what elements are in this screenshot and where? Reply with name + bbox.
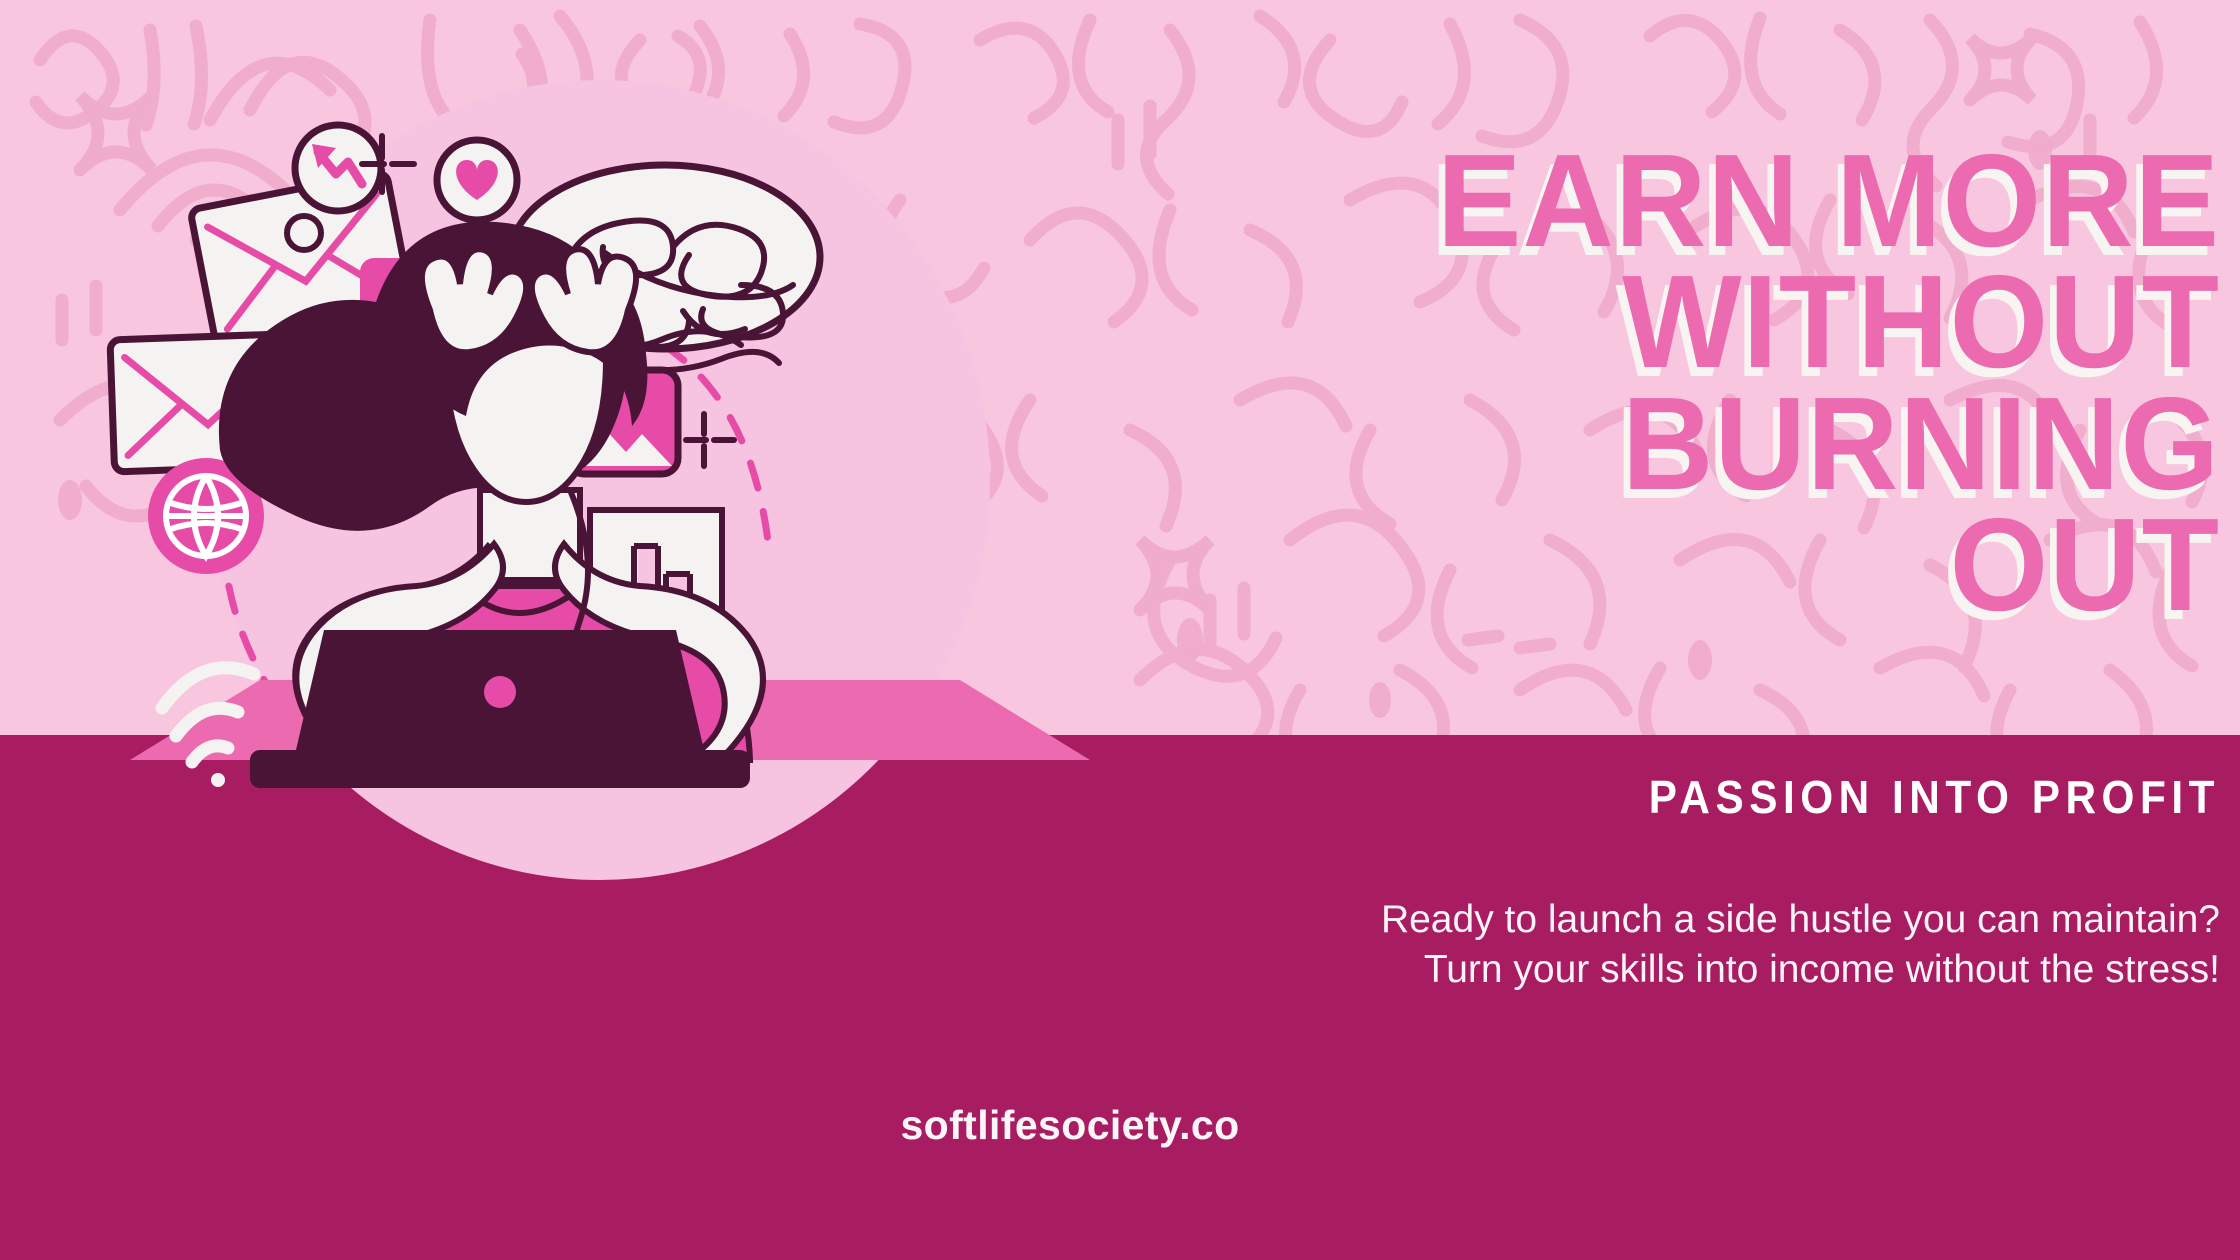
subheading: PASSION INTO PROFIT xyxy=(1226,770,2220,824)
headline-line-3: BURNING xyxy=(1183,383,2220,504)
body-line-2: Turn your skills into income without the… xyxy=(1020,945,2220,995)
headline-line-1: EARN MORE xyxy=(1183,140,2220,261)
website-url[interactable]: softlifesociety.co xyxy=(700,1102,1440,1149)
laptop-logo xyxy=(484,676,516,708)
page-headline: EARN MORE WITHOUT BURNING OUT xyxy=(1183,140,2220,626)
body-line-1: Ready to launch a side hustle you can ma… xyxy=(1020,895,2220,945)
illustration-woman-laptop xyxy=(100,60,1160,1060)
body-copy: Ready to launch a side hustle you can ma… xyxy=(1020,895,2220,995)
heart-badge xyxy=(437,140,517,220)
laptop-base xyxy=(250,750,750,788)
headline-line-2: WITHOUT xyxy=(1183,261,2220,382)
trend-arrow-badge xyxy=(295,125,381,211)
headline-line-4: OUT xyxy=(1183,504,2220,625)
poster-canvas: EARN MORE WITHOUT BURNING OUT PASSION IN… xyxy=(0,0,2240,1260)
